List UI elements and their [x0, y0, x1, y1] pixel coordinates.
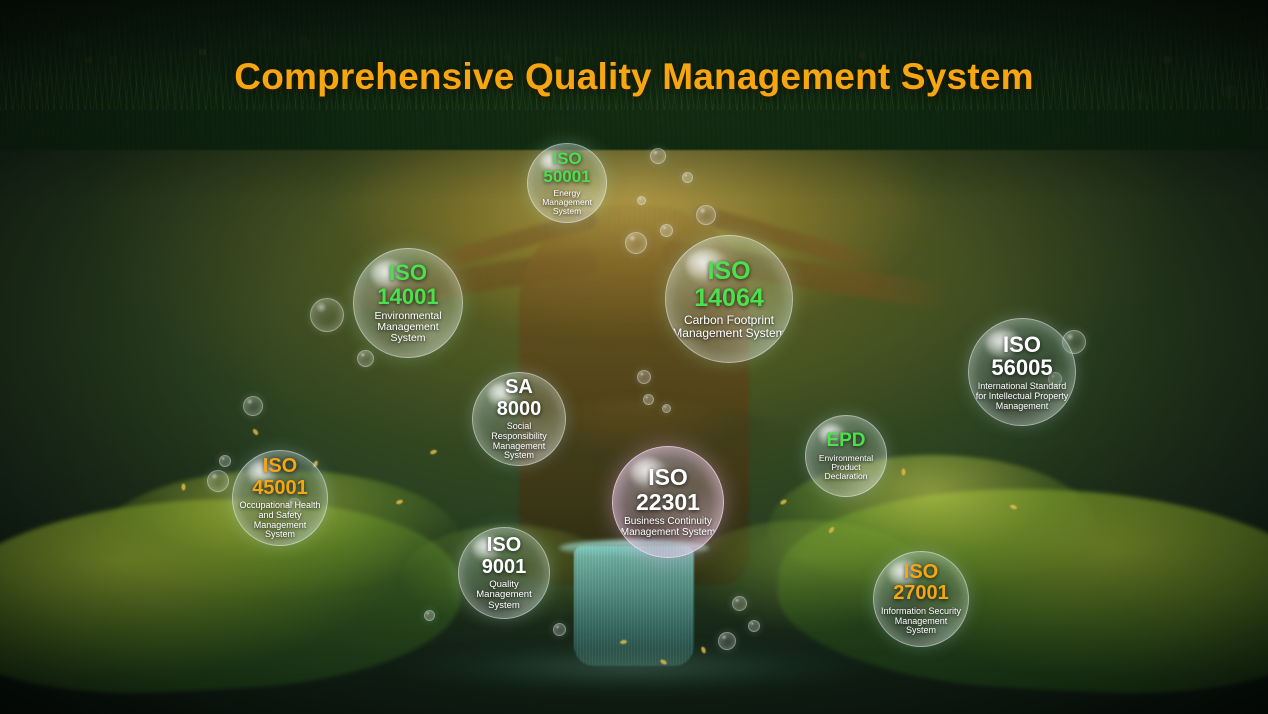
- bubble-code-iso-14064: ISO14064: [672, 258, 786, 312]
- decorative-bubble: [625, 232, 647, 254]
- top-shadow-overlay: [0, 0, 1268, 200]
- bubble-code-line1: ISO: [672, 258, 786, 285]
- canopy-highlight-layer: [0, 0, 1268, 300]
- bubble-code-line1: ISO: [465, 535, 543, 557]
- standard-bubble-epd[interactable]: EPDEnvironmental Product Declaration: [805, 415, 887, 497]
- bubble-code-line1: ISO: [619, 465, 717, 490]
- bubble-code-line1: ISO: [975, 333, 1069, 357]
- bubble-description-iso-9001: Quality Management System: [465, 580, 543, 611]
- standard-bubble-iso-27001[interactable]: ISO27001Information Security Management …: [873, 551, 969, 647]
- decorative-bubble: [732, 596, 747, 611]
- bubble-code-sa-8000: SA8000: [479, 377, 559, 420]
- bubble-code-iso-56005: ISO56005: [975, 333, 1069, 381]
- bubble-code-line1: ISO: [534, 150, 600, 168]
- decorative-bubble: [650, 148, 666, 164]
- bubble-description-iso-14064: Carbon Footprint Management System: [672, 314, 786, 340]
- bubble-code-line2: 45001: [239, 478, 321, 500]
- bubble-code-line1: SA: [479, 377, 559, 399]
- bubble-code-line2: 9001: [465, 557, 543, 579]
- bubble-code-line2: 56005: [975, 356, 1069, 380]
- floating-petal: [902, 469, 906, 476]
- bubble-text-iso-22301: ISO22301Business Continuity Management S…: [613, 465, 723, 538]
- bubble-description-iso-45001: Occupational Health and Safety Managemen…: [239, 501, 321, 540]
- bubble-code-line2: 8000: [479, 399, 559, 421]
- floating-petal: [430, 449, 438, 455]
- bubble-code-line1: EPD: [812, 431, 880, 452]
- bubble-code-iso-27001: ISO27001: [880, 562, 962, 605]
- tree-canopy-layer: [0, 0, 1268, 330]
- bubble-text-epd: EPDEnvironmental Product Declaration: [806, 431, 886, 481]
- page-title: Comprehensive Quality Management System: [0, 56, 1268, 98]
- scene-canvas: Comprehensive Quality Management System …: [0, 0, 1268, 714]
- decorative-bubble: [696, 205, 716, 225]
- decorative-bubble: [243, 396, 263, 416]
- bubble-text-iso-14064: ISO14064Carbon Footprint Management Syst…: [666, 258, 792, 340]
- wildflowers-layer: [0, 0, 1268, 200]
- standard-bubble-iso-14001[interactable]: ISO14001Environmental Management System: [353, 248, 463, 358]
- decorative-bubble: [660, 224, 673, 237]
- standard-bubble-iso-56005[interactable]: ISO56005International Standard for Intel…: [968, 318, 1076, 426]
- bubble-description-sa-8000: Social Responsibility Management System: [479, 422, 559, 461]
- decorative-bubble: [553, 623, 566, 636]
- bubble-text-iso-14001: ISO14001Environmental Management System: [354, 261, 462, 344]
- decorative-bubble: [637, 196, 646, 205]
- floating-petal: [700, 646, 706, 654]
- bubble-description-iso-14001: Environmental Management System: [360, 311, 456, 345]
- standard-bubble-iso-14064[interactable]: ISO14064Carbon Footprint Management Syst…: [665, 235, 793, 363]
- decorative-bubble: [637, 370, 651, 384]
- decorative-bubble: [718, 632, 736, 650]
- bubble-description-iso-27001: Information Security Management System: [880, 607, 962, 636]
- bubble-text-iso-27001: ISO27001Information Security Management …: [874, 562, 968, 636]
- decorative-bubble: [424, 610, 435, 621]
- floating-petal: [620, 639, 628, 644]
- standard-bubble-iso-22301[interactable]: ISO22301Business Continuity Management S…: [612, 446, 724, 558]
- decorative-bubble: [219, 455, 231, 467]
- bubble-description-iso-56005: International Standard for Intellectual …: [975, 382, 1069, 411]
- bubble-description-iso-22301: Business Continuity Management System: [619, 517, 717, 539]
- decorative-bubble: [682, 172, 693, 183]
- bubble-text-iso-45001: ISO45001Occupational Health and Safety M…: [233, 456, 327, 540]
- bubble-code-line2: 14001: [360, 285, 456, 309]
- decorative-bubble: [207, 470, 229, 492]
- bubble-code-iso-50001: ISO50001: [534, 150, 600, 187]
- bubble-text-iso-50001: ISO50001Energy Management System: [528, 150, 606, 216]
- bubble-code-line1: ISO: [880, 562, 962, 584]
- standard-bubble-iso-45001[interactable]: ISO45001Occupational Health and Safety M…: [232, 450, 328, 546]
- bubble-code-line1: ISO: [360, 261, 456, 285]
- bubble-code-epd: EPD: [812, 431, 880, 452]
- bubble-description-epd: Environmental Product Declaration: [812, 454, 880, 482]
- floating-petal: [659, 659, 667, 666]
- bubble-code-line2: 27001: [880, 583, 962, 605]
- bubble-code-iso-14001: ISO14001: [360, 261, 456, 309]
- decorative-bubble: [357, 350, 374, 367]
- standard-bubble-iso-50001[interactable]: ISO50001Energy Management System: [527, 143, 607, 223]
- floating-petal: [182, 484, 186, 491]
- bubble-text-sa-8000: SA8000Social Responsibility Management S…: [473, 377, 565, 461]
- bubble-code-iso-22301: ISO22301: [619, 465, 717, 515]
- bubble-code-line2: 50001: [534, 168, 600, 186]
- bubble-code-iso-9001: ISO9001: [465, 535, 543, 578]
- decorative-bubble: [662, 404, 671, 413]
- floating-petal: [252, 428, 259, 436]
- bubble-description-iso-50001: Energy Management System: [534, 189, 600, 217]
- bubble-code-line2: 14064: [672, 285, 786, 312]
- bubble-code-iso-45001: ISO45001: [239, 456, 321, 499]
- decorative-bubble: [643, 394, 654, 405]
- standard-bubble-iso-9001[interactable]: ISO9001Quality Management System: [458, 527, 550, 619]
- decorative-bubble: [748, 620, 760, 632]
- bubble-text-iso-56005: ISO56005International Standard for Intel…: [969, 333, 1075, 412]
- bubble-code-line2: 22301: [619, 490, 717, 515]
- bubble-text-iso-9001: ISO9001Quality Management System: [459, 535, 549, 611]
- decorative-bubble: [310, 298, 344, 332]
- standard-bubble-sa-8000[interactable]: SA8000Social Responsibility Management S…: [472, 372, 566, 466]
- bubble-code-line1: ISO: [239, 456, 321, 478]
